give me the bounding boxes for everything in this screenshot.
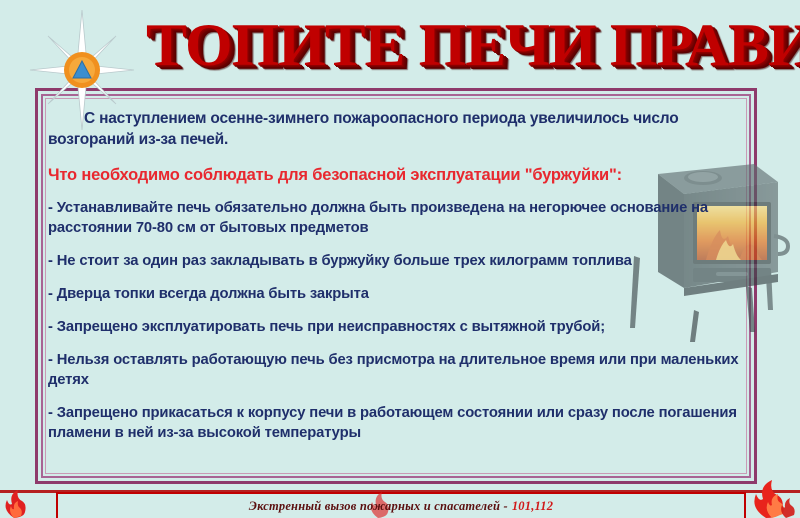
flame-icon <box>0 488 34 518</box>
emercom-star-icon <box>24 8 140 132</box>
list-item: - Устанавливайте печь обязательно должна… <box>48 198 754 238</box>
emercom-star-emblem <box>24 8 140 132</box>
emergency-call-footer: Экстренный вызов пожарных и спасателей -… <box>56 496 746 516</box>
safety-rules-list: - Устанавливайте печь обязательно должна… <box>48 198 754 443</box>
poster-title-container: ТОПИТЕ ПЕЧИ ПРАВИЛЬНО! <box>146 6 786 84</box>
list-item: - Нельзя оставлять работающую печь без п… <box>48 350 754 390</box>
list-item: - Запрещено эксплуатировать печь при неи… <box>48 317 754 337</box>
list-item: - Не стоит за один раз закладывать в бур… <box>48 251 754 271</box>
footer-label: Экстренный вызов пожарных и спасателей - <box>249 499 508 514</box>
intro-paragraph: С наступлением осенне-зимнего пожароопас… <box>48 108 754 150</box>
list-item: - Запрещено прикасаться к корпусу печи в… <box>48 403 754 443</box>
flame-decoration-right-icon <box>742 480 800 518</box>
list-item: - Дверца топки всегда должна быть закрыт… <box>48 284 754 304</box>
flame-icon <box>742 480 800 518</box>
flame-decoration-left-icon <box>0 488 34 518</box>
poster-content: С наступлением осенне-зимнего пожароопас… <box>48 100 754 472</box>
section-heading: Что необходимо соблюдать для безопасной … <box>48 164 754 186</box>
fire-safety-poster: ТОПИТЕ ПЕЧИ ПРАВИЛЬНО! <box>0 0 800 518</box>
emergency-phone-number: 101,112 <box>512 499 553 514</box>
page-title: ТОПИТЕ ПЕЧИ ПРАВИЛЬНО! <box>146 15 800 75</box>
